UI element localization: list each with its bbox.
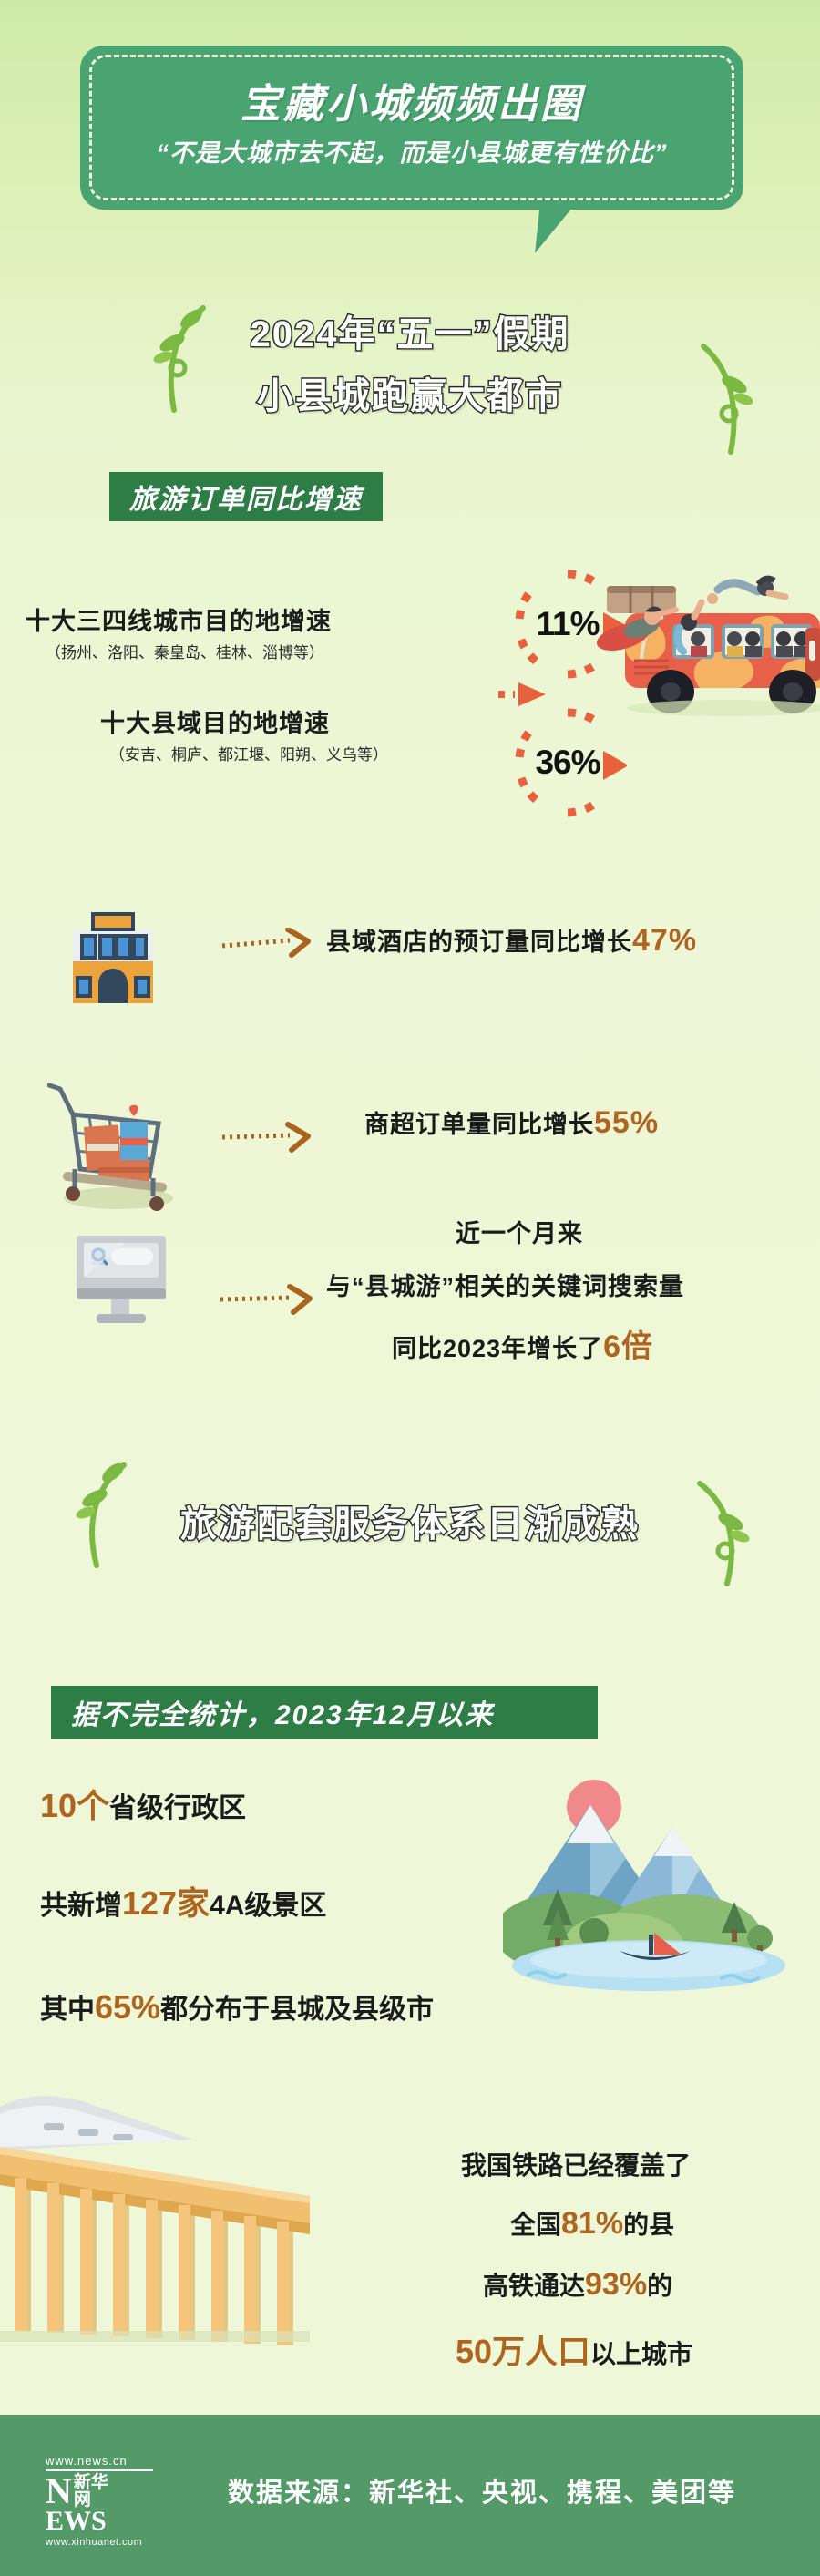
logo-cn-top: 新华 — [74, 2474, 108, 2491]
section1-heading-line2: 小县城跑赢大都市 — [0, 366, 820, 419]
tour-bus-illustration — [590, 570, 820, 779]
hero-section: 宝藏小城频频出圈 “不是大城市去不起，而是小县城更有性价比” — [0, 0, 820, 273]
hotel-stat-label: 县域酒店的预订量同比增长 — [326, 929, 632, 956]
rail-line2-suffix: 的县 — [623, 2211, 674, 2239]
hotel-stat-value: 47% — [632, 923, 697, 958]
county-distribution-stat: 其中65%都分布于县城及县级市 — [40, 1986, 434, 2027]
province-stat-label: 省级行政区 — [109, 1793, 246, 1823]
search-line1: 近一个月来 — [456, 1214, 583, 1249]
statistics-banner: 据不完全统计，2023年12月以来 — [51, 1686, 598, 1739]
shopping-cart-icon — [47, 1071, 184, 1216]
railway-bridge-illustration — [0, 2087, 428, 2360]
county-distribution-value: 65% — [95, 1988, 160, 2026]
supermarket-stat-text: 商超订单量同比增长55% — [364, 1104, 659, 1141]
statistics-banner-label: 据不完全统计，2023年12月以来 — [71, 1692, 494, 1732]
dotted-arrow-cart-icon — [220, 1121, 312, 1158]
bubble-tail — [535, 202, 593, 253]
section1-heading-line1: 2024年“五一”假期 — [0, 304, 820, 357]
page-title: 宝藏小城频频出圈 — [80, 71, 743, 129]
tourism-order-banner: 旅游订单同比增速 — [109, 472, 383, 521]
search-line2: 与“县城游”相关的关键词搜索量 — [326, 1267, 684, 1302]
rail-line3-value: 93% — [585, 2267, 647, 2302]
search-line3-label: 同比2023年增长了 — [392, 1335, 603, 1362]
tier-city-note: （扬州、洛阳、秦皇岛、桂林、淄博等） — [46, 640, 324, 662]
rail-line2: 全国81%的县 — [510, 2205, 674, 2242]
rail-line3: 高铁通达93%的 — [483, 2266, 672, 2303]
hotel-stat-text: 县域酒店的预订量同比增长47% — [326, 922, 697, 959]
scenic-area-value: 127家 — [122, 1884, 210, 1922]
county-distribution-prefix: 其中 — [40, 1995, 95, 2025]
rail-line3-prefix: 高铁通达 — [483, 2272, 585, 2300]
xinhua-logo[interactable]: www.news.cn N 新华 网 EWS www.xinhuanet.com — [46, 2454, 205, 2540]
scenic-area-suffix: 4A级景区 — [210, 1891, 326, 1921]
logo-url-bottom: www.xinhuanet.com — [46, 2537, 205, 2548]
rail-line1: 我国铁路已经覆盖了 — [461, 2146, 691, 2182]
supermarket-stat-label: 商超订单量同比增长 — [364, 1111, 594, 1138]
rail-line2-prefix: 全国 — [510, 2211, 561, 2239]
computer-search-icon — [71, 1230, 171, 1335]
arrow-between-badges-icon — [497, 676, 551, 713]
data-source-text: 数据来源：新华社、央视、携程、美团等 — [228, 2471, 736, 2509]
dotted-arrow-search-icon — [219, 1283, 314, 1320]
logo-wordmark: N 新华 网 — [46, 2474, 205, 2509]
province-stat: 10个省级行政区 — [40, 1780, 246, 1827]
search-line3: 同比2023年增长了6倍 — [392, 1321, 653, 1366]
search-line3-value: 6倍 — [603, 1329, 653, 1364]
section2-heading: 旅游配套服务体系日渐成熟 — [0, 1494, 820, 1547]
rail-line2-value: 81% — [561, 2206, 623, 2241]
scenic-area-stat: 共新增127家4A级景区 — [40, 1877, 326, 1924]
supermarket-stat-value: 55% — [594, 1105, 659, 1140]
rail-line4: 50万人口以上城市 — [456, 2325, 692, 2373]
scenic-area-prefix: 共新增 — [40, 1891, 122, 1921]
rail-line4-suffix: 以上城市 — [590, 2340, 692, 2368]
dotted-arrow-hotel-icon — [220, 928, 312, 965]
footer-bar: www.news.cn N 新华 网 EWS www.xinhuanet.com… — [0, 2415, 820, 2576]
logo-letter-n: N — [46, 2477, 72, 2507]
mountain-lake-illustration — [503, 1772, 794, 1991]
county-label: 十大县域目的地增速 — [100, 703, 330, 739]
infographic-canvas: 宝藏小城频频出圈 “不是大城市去不起，而是小县城更有性价比” 2024年“五一”… — [0, 0, 820, 2576]
province-stat-value: 10个 — [40, 1787, 109, 1824]
hotel-icon — [66, 907, 160, 1007]
tourism-order-banner-label: 旅游订单同比增速 — [129, 477, 363, 517]
logo-letters-ews: EWS — [46, 2509, 205, 2533]
county-note: （安吉、桐庐、都江堰、阳朔、义乌等） — [109, 742, 388, 765]
tier-city-label: 十大三四线城市目的地增速 — [26, 601, 332, 637]
section1-heading-group: 2024年“五一”假期 小县城跑赢大都市 — [0, 282, 820, 456]
page-subtitle: “不是大城市去不起，而是小县城更有性价比” — [80, 133, 743, 169]
rail-line4-value: 50万人口 — [456, 2333, 590, 2370]
county-distribution-suffix: 都分布于县城及县级市 — [160, 1995, 434, 2025]
rail-line3-suffix: 的 — [647, 2272, 672, 2300]
logo-url-top: www.news.cn — [46, 2454, 153, 2471]
